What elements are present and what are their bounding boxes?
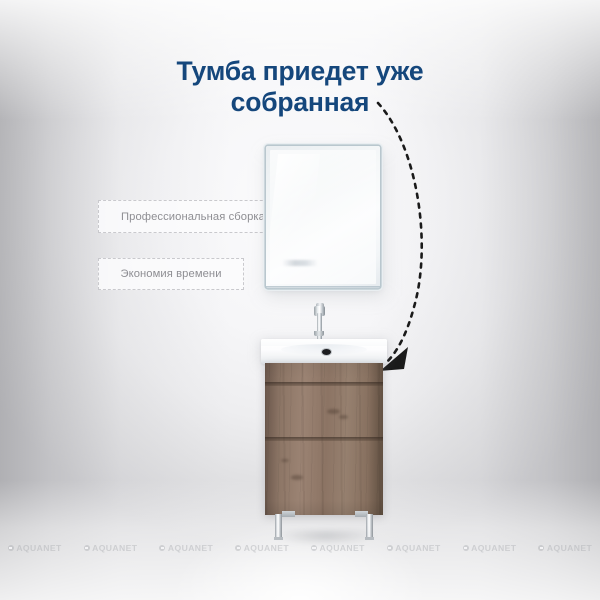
wood-knot bbox=[281, 459, 289, 462]
feature-tag-time-saving: Экономия времени bbox=[98, 258, 244, 290]
page-title: Тумба приедет уже собранная bbox=[0, 56, 600, 117]
product-cabinet bbox=[265, 363, 383, 515]
cabinet-drawer-gap-top bbox=[265, 382, 383, 386]
feature-tag-professional-assembly: Профессиональная сборка bbox=[98, 200, 288, 233]
cabinet-right-shading bbox=[367, 363, 383, 515]
cabinet-left-shading bbox=[265, 363, 279, 515]
wood-knot bbox=[327, 409, 340, 414]
faucet-spout bbox=[314, 331, 324, 336]
mirror-bottom-edge bbox=[266, 286, 380, 289]
dashed-curved-arrow bbox=[370, 95, 440, 380]
product-basin bbox=[261, 339, 387, 364]
feature-tag-label: Экономия времени bbox=[120, 268, 221, 280]
feature-tag-label: Профессиональная сборка bbox=[121, 211, 265, 223]
wood-knot bbox=[339, 415, 348, 419]
product-promo-image: Тумба приедет уже собранная Профессионал… bbox=[0, 0, 600, 600]
unit-floor-shadow bbox=[256, 530, 396, 544]
page-title-line-1: Тумба приедет уже bbox=[0, 56, 600, 87]
cabinet-leg-bracket-left bbox=[282, 511, 295, 517]
product-mirror bbox=[266, 146, 380, 288]
basin-drain bbox=[322, 349, 331, 355]
cabinet-drawer-gap-middle bbox=[265, 437, 383, 441]
arrow-path bbox=[378, 103, 422, 363]
mirror-reflection-mark bbox=[282, 260, 318, 266]
wood-knot bbox=[291, 475, 303, 480]
page-title-line-2: собранная bbox=[0, 87, 600, 118]
